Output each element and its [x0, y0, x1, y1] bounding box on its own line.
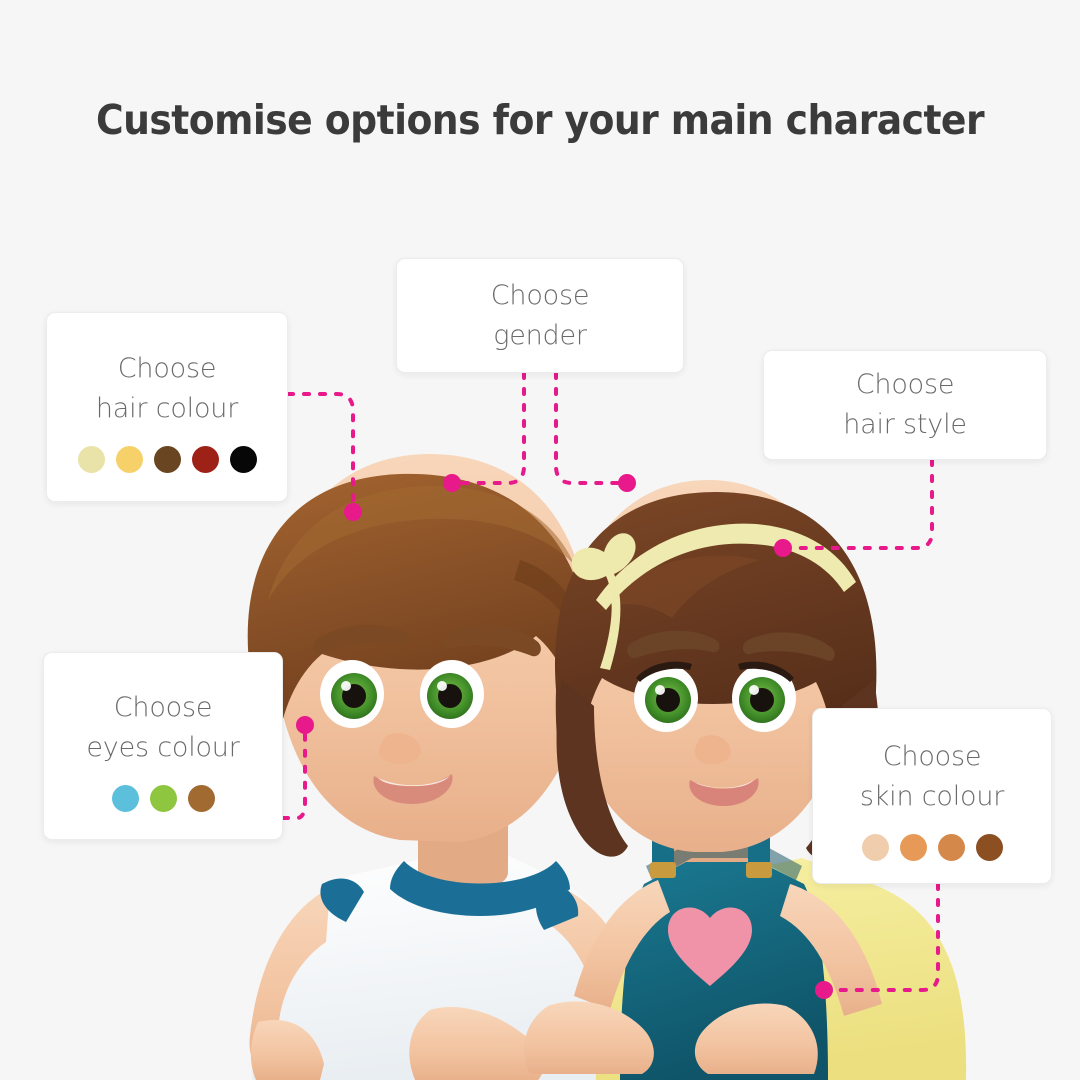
eyes-colour-swatches — [112, 785, 215, 812]
card-skin-colour-label: Choose skin colour — [860, 737, 1004, 817]
card-hair-style-label: Choose hair style — [843, 365, 967, 445]
swatch-hair-black[interactable] — [230, 446, 257, 473]
card-skin-colour[interactable]: Choose skin colour — [812, 708, 1052, 884]
swatch-eyes-green[interactable] — [150, 785, 177, 812]
hair-colour-swatches — [78, 446, 257, 473]
swatch-hair-auburn-red[interactable] — [192, 446, 219, 473]
card-gender[interactable]: Choose gender — [396, 258, 684, 373]
swatch-skin-medium-warm[interactable] — [900, 834, 927, 861]
swatch-hair-blonde-golden[interactable] — [116, 446, 143, 473]
character-illustration — [0, 0, 1080, 1080]
swatch-eyes-blue[interactable] — [112, 785, 139, 812]
card-hair-colour-label: Choose hair colour — [96, 349, 238, 429]
boy-right-eye — [420, 660, 484, 728]
card-hair-colour[interactable]: Choose hair colour — [46, 312, 288, 502]
swatch-skin-tan[interactable] — [938, 834, 965, 861]
swatch-hair-blonde-pale[interactable] — [78, 446, 105, 473]
card-eyes-colour[interactable]: Choose eyes colour — [43, 652, 283, 840]
swatch-skin-light[interactable] — [862, 834, 889, 861]
card-gender-label: Choose gender — [491, 276, 589, 356]
skin-colour-swatches — [862, 834, 1003, 861]
card-hair-style[interactable]: Choose hair style — [763, 350, 1047, 460]
customisation-screen: Customise options for your main characte… — [0, 0, 1080, 1080]
swatch-hair-brown[interactable] — [154, 446, 181, 473]
card-eyes-colour-label: Choose eyes colour — [86, 688, 239, 768]
swatch-eyes-brown[interactable] — [188, 785, 215, 812]
boy-left-eye — [320, 660, 384, 728]
swatch-skin-dark[interactable] — [976, 834, 1003, 861]
